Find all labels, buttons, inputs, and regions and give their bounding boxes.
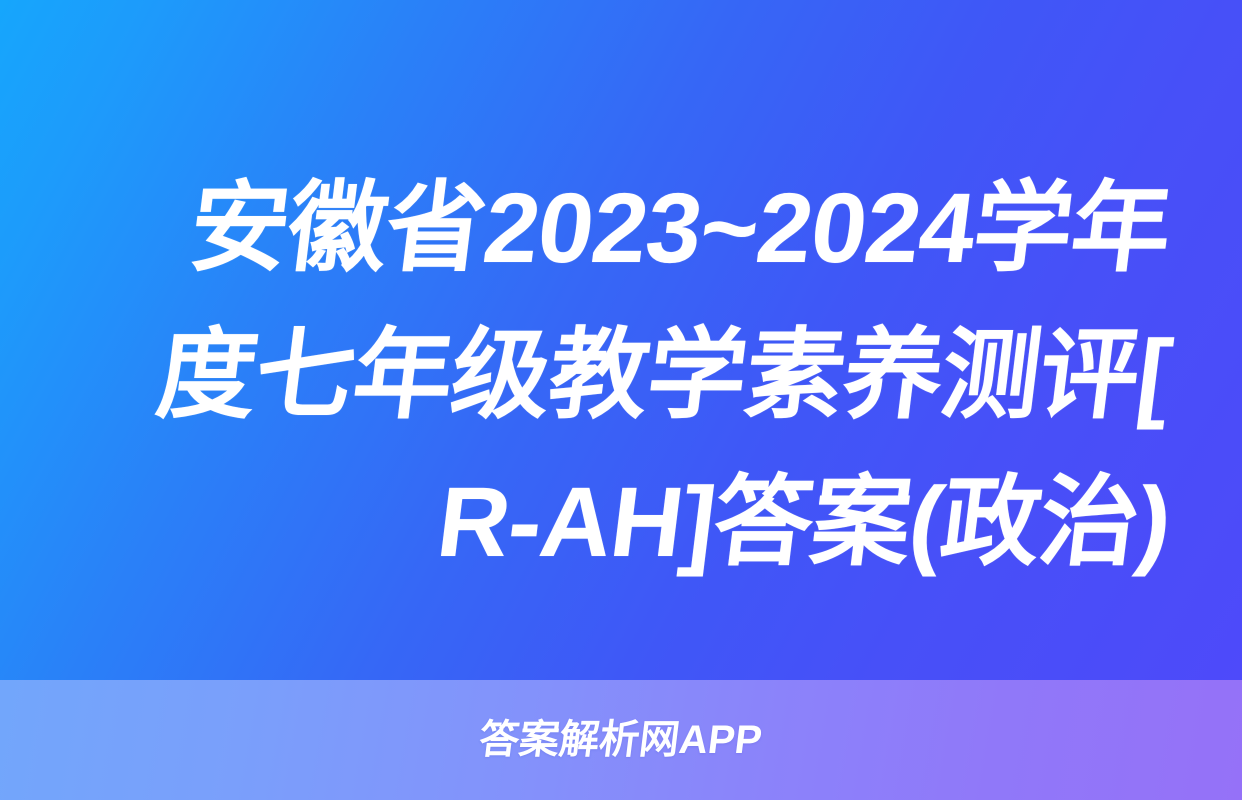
app-watermark: 答案解析网APP <box>0 707 1242 765</box>
answer-cover-card: 安徽省2023~2024学年 度七年级教学素养测评[ R-AH]答案(政治) 答… <box>0 0 1242 800</box>
